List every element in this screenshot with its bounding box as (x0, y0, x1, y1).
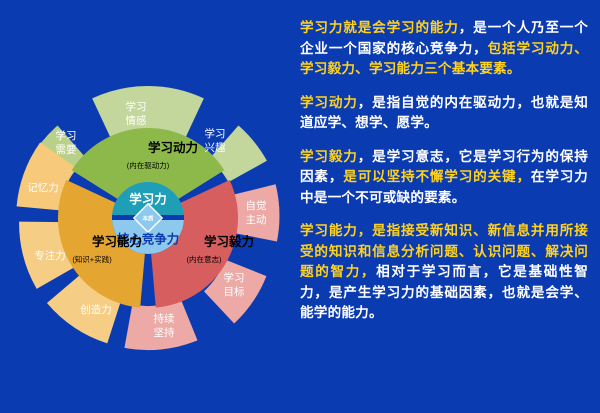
outer-label-learning-emotion-line2: 情感 (126, 114, 147, 127)
outer-label-memory-line1: 记忆力 (27, 181, 59, 194)
text-run-perseverance-2: 是可以坚持不懈学习的关键， (343, 169, 531, 184)
outer-label-learning-goal-line1: 学习 (224, 271, 245, 284)
description-text-panel: 学习力就是会学习的能力，是一个人乃至一个企业一个国家的核心竞争力，包括学习动力、… (300, 18, 588, 406)
outer-label-learning-goal-line2: 目标 (224, 286, 245, 298)
inner-label-motivation-title: 学习动力 (148, 140, 198, 155)
inner-label-perseverance-title: 学习毅力 (204, 234, 254, 249)
outer-label-persistence-line1: 持续 (154, 312, 175, 325)
core-top-label: 学习力 (129, 191, 167, 206)
outer-label-learning-need-line1: 学习 (56, 129, 77, 142)
outer-segment-learning-emotion-arc[interactable] (101, 108, 194, 118)
learning-power-wheel: 本质 学习力 核心竞争力 学习动力 (内在驱动力) 学习毅力 (内在意志) 学习… (12, 82, 284, 354)
infographic-page: 本质 学习力 核心竞争力 学习动力 (内在驱动力) 学习毅力 (内在意志) 学习… (0, 0, 600, 413)
inner-label-perseverance-subtitle: (内在意志) (187, 254, 222, 264)
outer-label-creativity-line1: 创造力 (80, 303, 112, 316)
paragraph-motivation: 学习动力，是指自觉的内在驱动力，也就是知道应学、想学、愿学。 (300, 93, 588, 134)
inner-label-ability-subtitle: (知识+实践) (72, 254, 112, 264)
learning-power-wheel-panel: 本质 学习力 核心竞争力 学习动力 (内在驱动力) 学习毅力 (内在意志) 学习… (0, 0, 296, 413)
inner-label-motivation-subtitle: (内在驱动力) (127, 160, 170, 170)
text-run-perseverance-0: 学习毅力 (300, 149, 358, 164)
outer-label-self-initiative-line2: 主动 (246, 214, 267, 226)
paragraph-definition: 学习力就是会学习的能力，是一个人乃至一个企业一个国家的核心竞争力，包括学习动力、… (300, 18, 588, 80)
outer-label-learning-need-line2: 需要 (56, 144, 77, 156)
outer-label-self-initiative-line1: 自觉 (246, 199, 267, 212)
paragraph-ability: 学习能力，是指接受新知识、新信息并用所接受的知识和信息分析问题、认识问题、解决问… (300, 221, 588, 324)
outer-label-persistence-line2: 坚持 (154, 326, 175, 339)
paragraph-perseverance: 学习毅力，是学习意志，它是学习行为的保持因素，是可以坚持不懈学习的关键，在学习力… (300, 147, 588, 209)
inner-label-ability-title: 学习能力 (92, 234, 142, 249)
outer-label-learning-interest-line2: 兴趣 (205, 141, 226, 154)
outer-segment-learning-interest-arc[interactable] (224, 142, 248, 171)
outer-label-focus-line1: 专注力 (34, 249, 66, 262)
outer-label-learning-emotion-line1: 学习 (126, 100, 147, 113)
core-diamond-label: 本质 (142, 214, 154, 222)
text-run-definition-0: 学习力就是会学习的能力 (300, 20, 459, 35)
outer-label-learning-interest-line1: 学习 (205, 127, 226, 140)
text-run-motivation-0: 学习动力 (300, 95, 358, 110)
